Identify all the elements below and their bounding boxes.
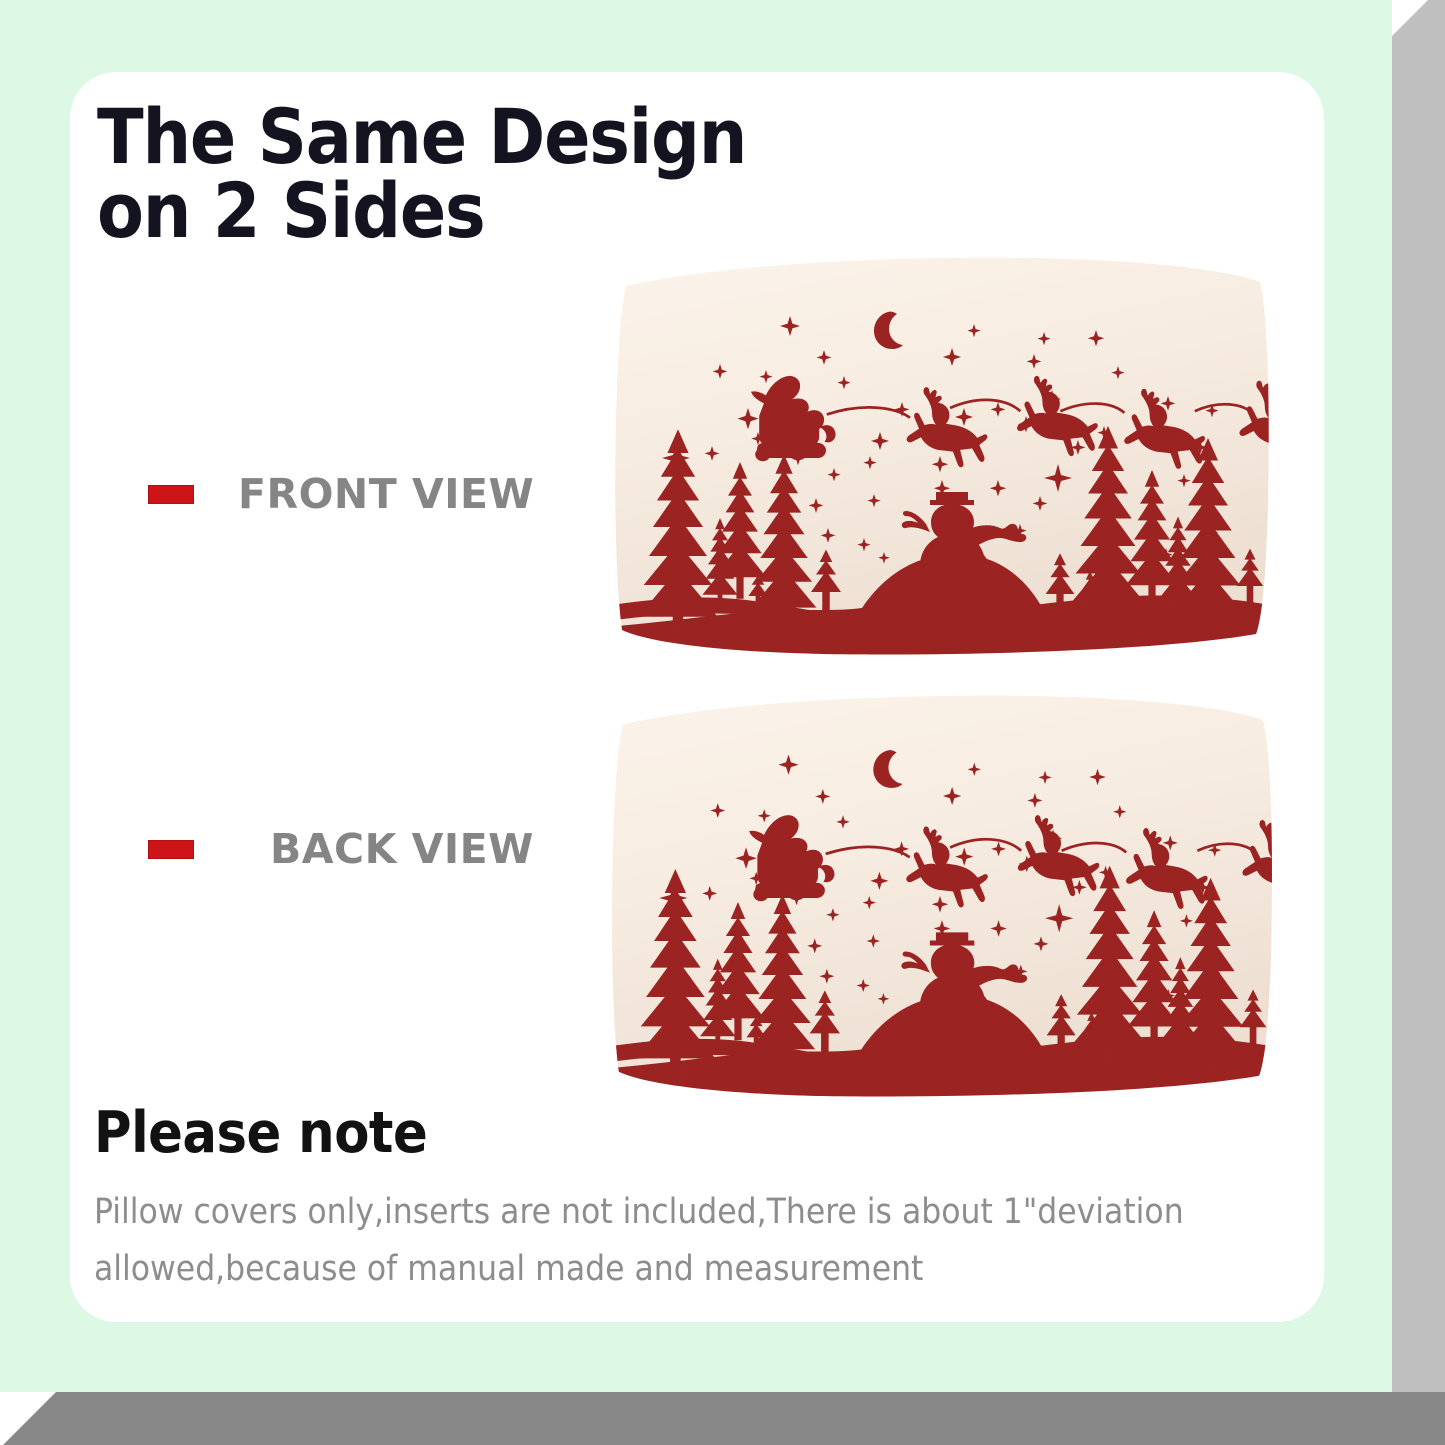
red-dash-marker-icon: [148, 485, 194, 504]
page-edge-right: [1392, 0, 1445, 1392]
front-view-label: FRONT VIEW: [238, 470, 534, 518]
back-view-label-row: BACK VIEW: [148, 825, 534, 873]
page-title: The Same Design on 2 Sides: [97, 100, 857, 247]
back-view-label: BACK VIEW: [270, 825, 534, 873]
red-dash-marker-icon: [148, 840, 194, 859]
note-body: Pillow covers only,inserts are not inclu…: [94, 1184, 1284, 1297]
page-title-line-2: on 2 Sides: [97, 174, 857, 248]
note-title: Please note: [94, 1100, 427, 1166]
front-view-label-row: FRONT VIEW: [148, 470, 534, 518]
front-view-pillow: [612, 256, 1272, 656]
product-infographic: The Same Design on 2 Sides FRONT VIEW BA…: [0, 0, 1445, 1445]
back-view-pillow: [606, 694, 1278, 1098]
page-title-line-1: The Same Design: [97, 100, 857, 174]
page-edge-bottom: [0, 1392, 1445, 1445]
